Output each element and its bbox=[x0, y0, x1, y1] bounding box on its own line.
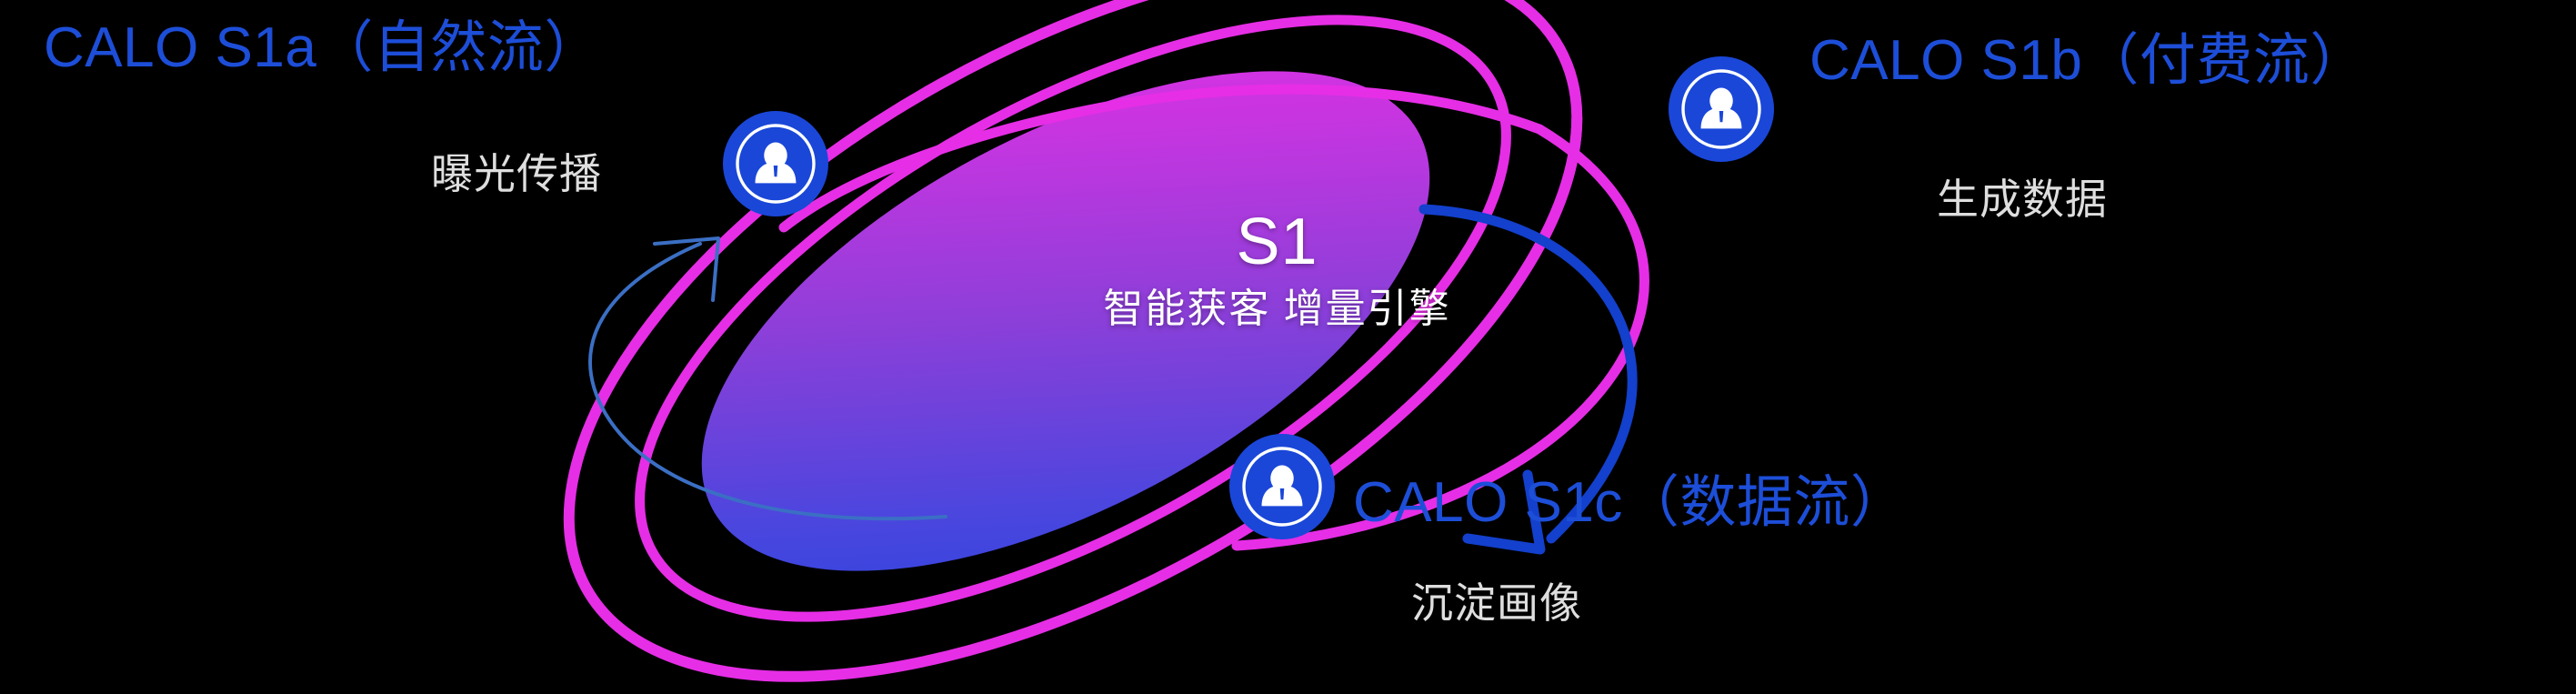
node-s1b[interactable] bbox=[1669, 56, 1774, 162]
core-title: S1 bbox=[0, 209, 2565, 275]
node-label-s1a: CALO S1a（自然流） bbox=[44, 20, 601, 76]
node-s1a[interactable] bbox=[723, 111, 828, 216]
node-sublabel-s1b: 生成数据 bbox=[1937, 178, 2108, 220]
node-label-s1b: CALO S1b（付费流） bbox=[1809, 33, 2367, 89]
core-subtitle: 智能获客 增量引擎 bbox=[0, 289, 2565, 329]
avatar-nodes-layer bbox=[0, 0, 2576, 694]
diagram-canvas: S1 智能获客 增量引擎 CALO S1a（自然流） 曝光传播 CALO S1b… bbox=[0, 0, 2576, 694]
node-sublabel-s1a: 曝光传播 bbox=[431, 153, 602, 195]
node-sublabel-s1c: 沉淀画像 bbox=[1411, 582, 1582, 624]
node-s1c[interactable] bbox=[1229, 434, 1335, 539]
node-label-s1c: CALO S1c（数据流） bbox=[1353, 475, 1907, 531]
